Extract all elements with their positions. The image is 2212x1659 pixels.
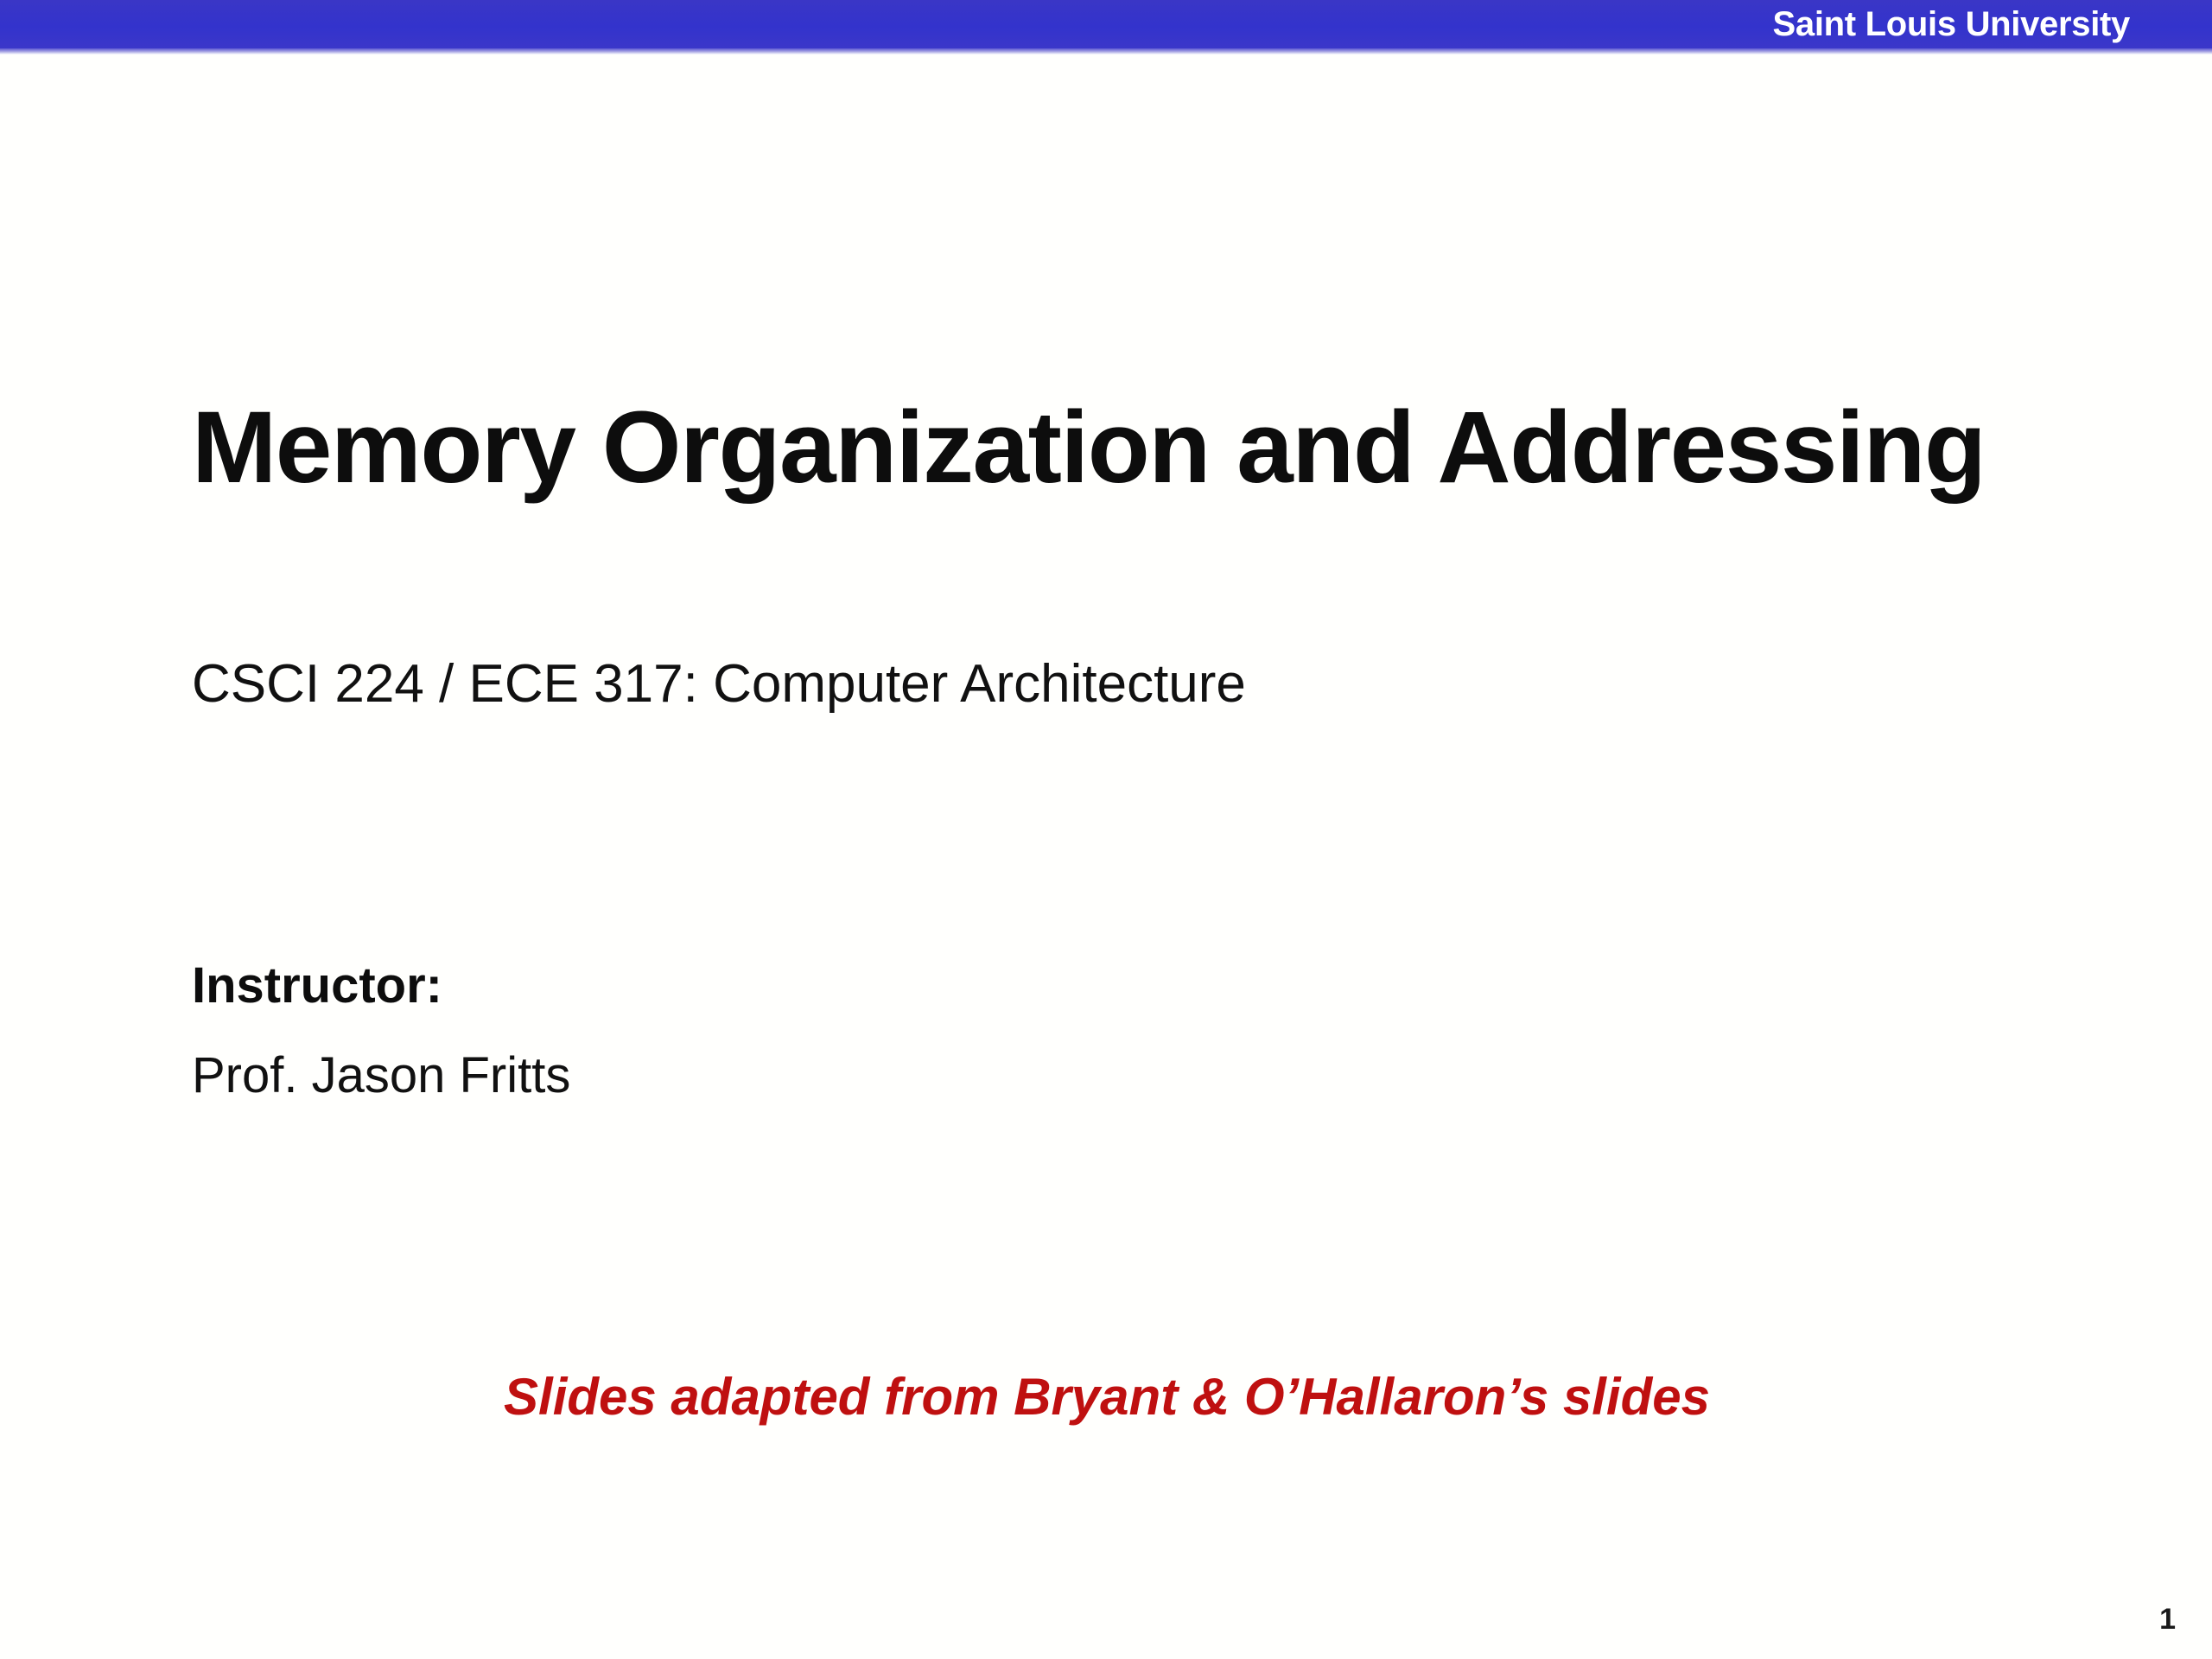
page-number: 1: [2159, 1600, 2176, 1638]
presentation-slide: Saint Louis University Memory Organizati…: [0, 0, 2212, 1659]
course-subtitle: CSCI 224 / ECE 317: Computer Architectur…: [192, 650, 1246, 719]
slide-attribution: Slides adapted from Bryant & O’Hallaron’…: [504, 1363, 1710, 1431]
instructor-label: Instructor:: [192, 954, 442, 1018]
page-title: Memory Organization and Addressing: [192, 391, 1985, 505]
banner-bottom-edge: [0, 48, 2212, 54]
instructor-name: Prof. Jason Fritts: [192, 1044, 570, 1108]
institution-name: Saint Louis University: [1773, 2, 2131, 47]
